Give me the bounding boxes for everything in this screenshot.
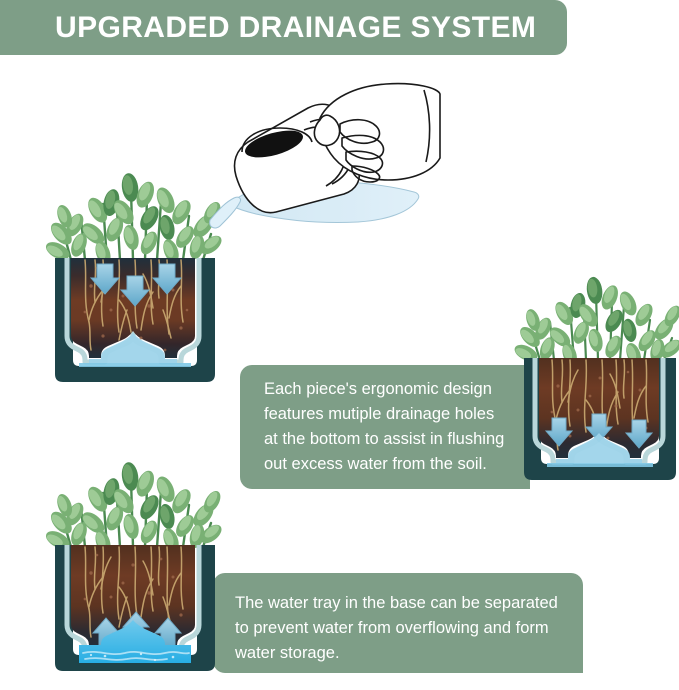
callout-drainage-text: Each piece's ergonomic design features m… (264, 377, 516, 477)
header-banner: UPGRADED DRAINAGE SYSTEM (0, 0, 567, 55)
foliage-mid-right (512, 276, 679, 368)
pot-cross-section-bottom-left (55, 545, 215, 671)
callout-drainage: Each piece's ergonomic design features m… (240, 365, 530, 489)
callout-water-tray: The water tray in the base can be separa… (213, 573, 583, 673)
pot-cross-section-top-left (55, 258, 215, 382)
foliage-bottom-left (43, 461, 225, 556)
planter-mid-right (516, 268, 679, 500)
planter-bottom-left (45, 455, 225, 690)
callout-water-tray-text: The water tray in the base can be separa… (235, 591, 569, 666)
hand-holding-watering-can (180, 80, 440, 275)
page-title: UPGRADED DRAINAGE SYSTEM (55, 13, 536, 43)
pot-cross-section-mid-right (524, 358, 676, 480)
